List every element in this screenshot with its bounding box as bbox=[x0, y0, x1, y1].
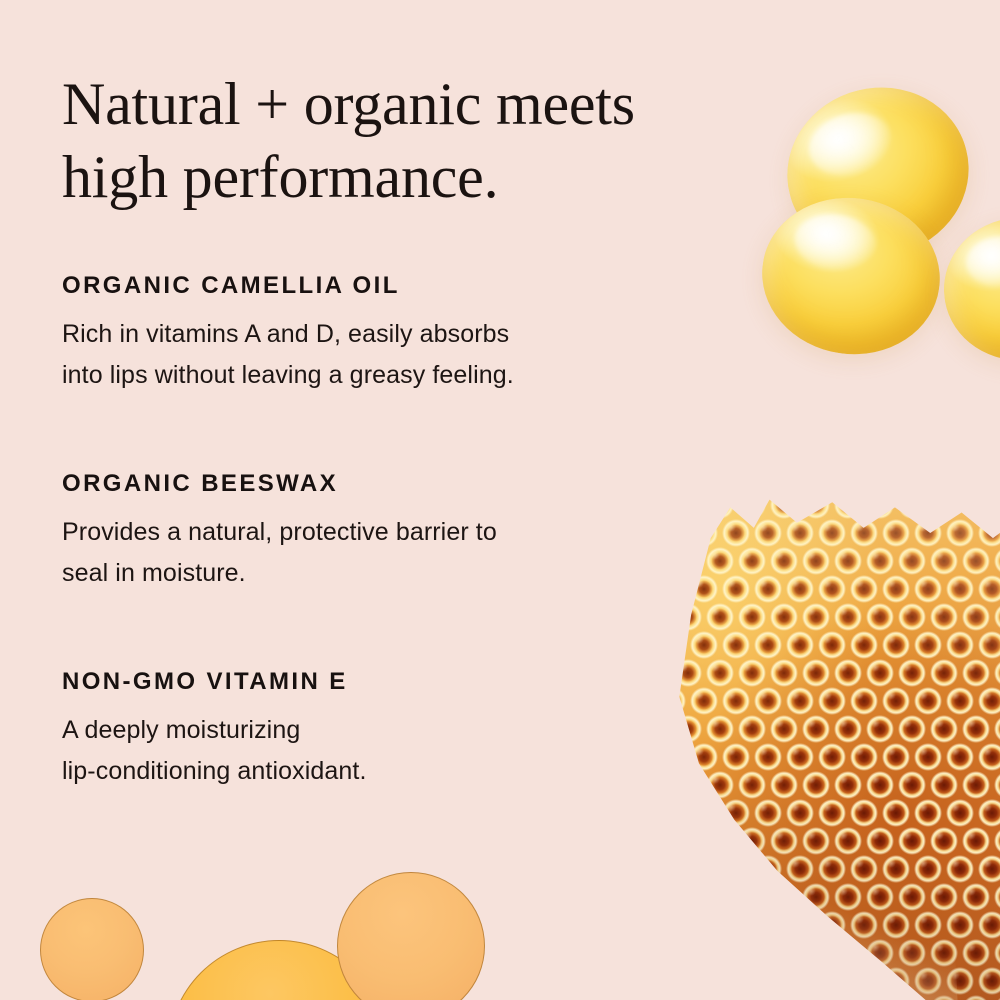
text-column: Natural + organic meets high performance… bbox=[62, 0, 762, 1000]
ingredient-description-line: Rich in vitamins A and D, easily absorbs bbox=[62, 314, 752, 355]
ingredient-description: A deeply moisturizing lip-conditioning a… bbox=[62, 710, 752, 791]
ingredient-description: Provides a natural, protective barrier t… bbox=[62, 512, 752, 593]
ingredient-block-beeswax: ORGANIC BEESWAX Provides a natural, prot… bbox=[62, 470, 752, 593]
ingredient-description-line: Provides a natural, protective barrier t… bbox=[62, 512, 752, 553]
ingredient-title: ORGANIC BEESWAX bbox=[62, 470, 752, 498]
ingredient-block-camellia-oil: ORGANIC CAMELLIA OIL Rich in vitamins A … bbox=[62, 272, 752, 395]
headline-line-2: high performance. bbox=[62, 144, 498, 210]
ingredient-description-line: lip-conditioning antioxidant. bbox=[62, 751, 752, 792]
ingredient-title: NON-GMO VITAMIN E bbox=[62, 668, 752, 696]
ingredient-description: Rich in vitamins A and D, easily absorbs… bbox=[62, 314, 752, 395]
ingredient-description-line: A deeply moisturizing bbox=[62, 710, 752, 751]
promo-graphic: Natural + organic meets high performance… bbox=[0, 0, 1000, 1000]
headline-line-1: Natural + organic meets bbox=[62, 71, 635, 137]
ingredient-description-line: seal in moisture. bbox=[62, 553, 752, 594]
page-title: Natural + organic meets high performance… bbox=[62, 68, 752, 214]
ingredient-title: ORGANIC CAMELLIA OIL bbox=[62, 272, 752, 300]
oil-droplet-right-icon bbox=[939, 213, 1000, 365]
ingredient-description-line: into lips without leaving a greasy feeli… bbox=[62, 355, 752, 396]
oil-droplet-top-icon bbox=[769, 68, 986, 275]
ingredient-block-vitamin-e: NON-GMO VITAMIN E A deeply moisturizing … bbox=[62, 668, 752, 791]
oil-droplet-left-icon bbox=[752, 186, 950, 365]
